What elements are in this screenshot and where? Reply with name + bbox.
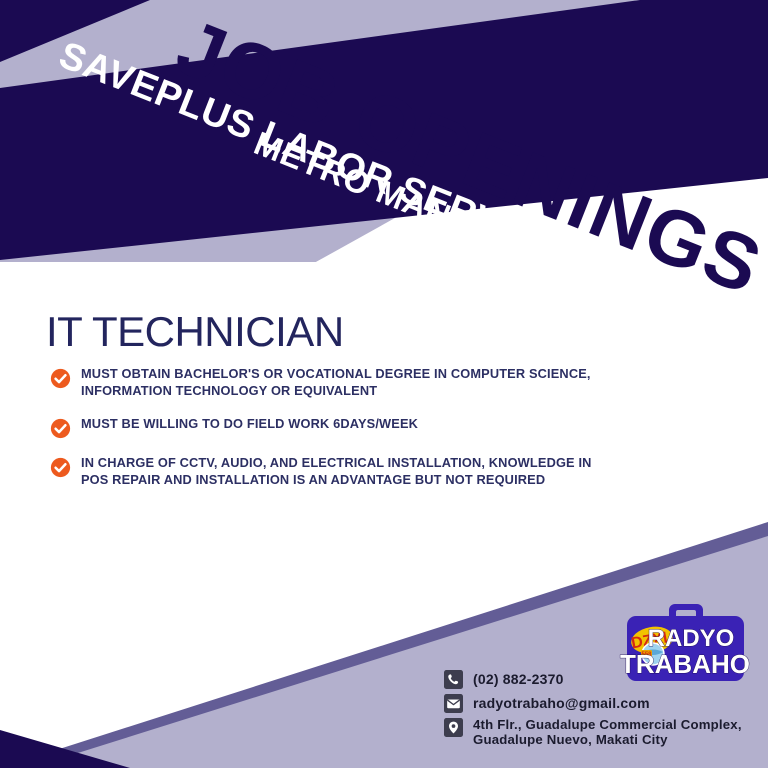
requirement-item: MUST OBTAIN BACHELOR'S OR VOCATIONAL DEG…: [50, 366, 610, 400]
requirements-list: MUST OBTAIN BACHELOR'S OR VOCATIONAL DEG…: [50, 366, 610, 505]
phone-icon: [444, 670, 463, 689]
contact-address[interactable]: 4th Flr., Guadalupe Commercial Complex, …: [444, 718, 742, 748]
job-posting-poster: JOB OPENINGS SAVEPLUS LABOR SERVICE COOP…: [0, 0, 768, 768]
address-text: 4th Flr., Guadalupe Commercial Complex, …: [473, 718, 742, 748]
requirement-text: MUST OBTAIN BACHELOR'S OR VOCATIONAL DEG…: [81, 366, 597, 400]
contact-info: (02) 882-2370 radyotrabaho@gmail.com 4th…: [444, 670, 742, 753]
logo-brand-line1: RADYO: [648, 625, 735, 652]
contact-phone[interactable]: (02) 882-2370: [444, 670, 742, 689]
requirement-text: IN CHARGE OF CCTV, AUDIO, AND ELECTRICAL…: [81, 455, 597, 489]
job-title: IT TECHNICIAN: [46, 308, 344, 356]
requirement-item: MUST BE WILLING TO DO FIELD WORK 6DAYS/W…: [50, 416, 610, 439]
check-circle-icon: [50, 457, 71, 478]
envelope-icon: [444, 694, 463, 713]
location-pin-icon: [444, 718, 463, 737]
requirement-text: MUST BE WILLING TO DO FIELD WORK 6DAYS/W…: [81, 416, 418, 433]
check-circle-icon: [50, 368, 71, 389]
requirement-item: IN CHARGE OF CCTV, AUDIO, AND ELECTRICAL…: [50, 455, 610, 489]
contact-email[interactable]: radyotrabaho@gmail.com: [444, 694, 742, 713]
check-circle-icon: [50, 418, 71, 439]
email-text: radyotrabaho@gmail.com: [473, 696, 650, 712]
phone-text: (02) 882-2370: [473, 672, 564, 688]
briefcase-handle-icon: [669, 604, 703, 618]
